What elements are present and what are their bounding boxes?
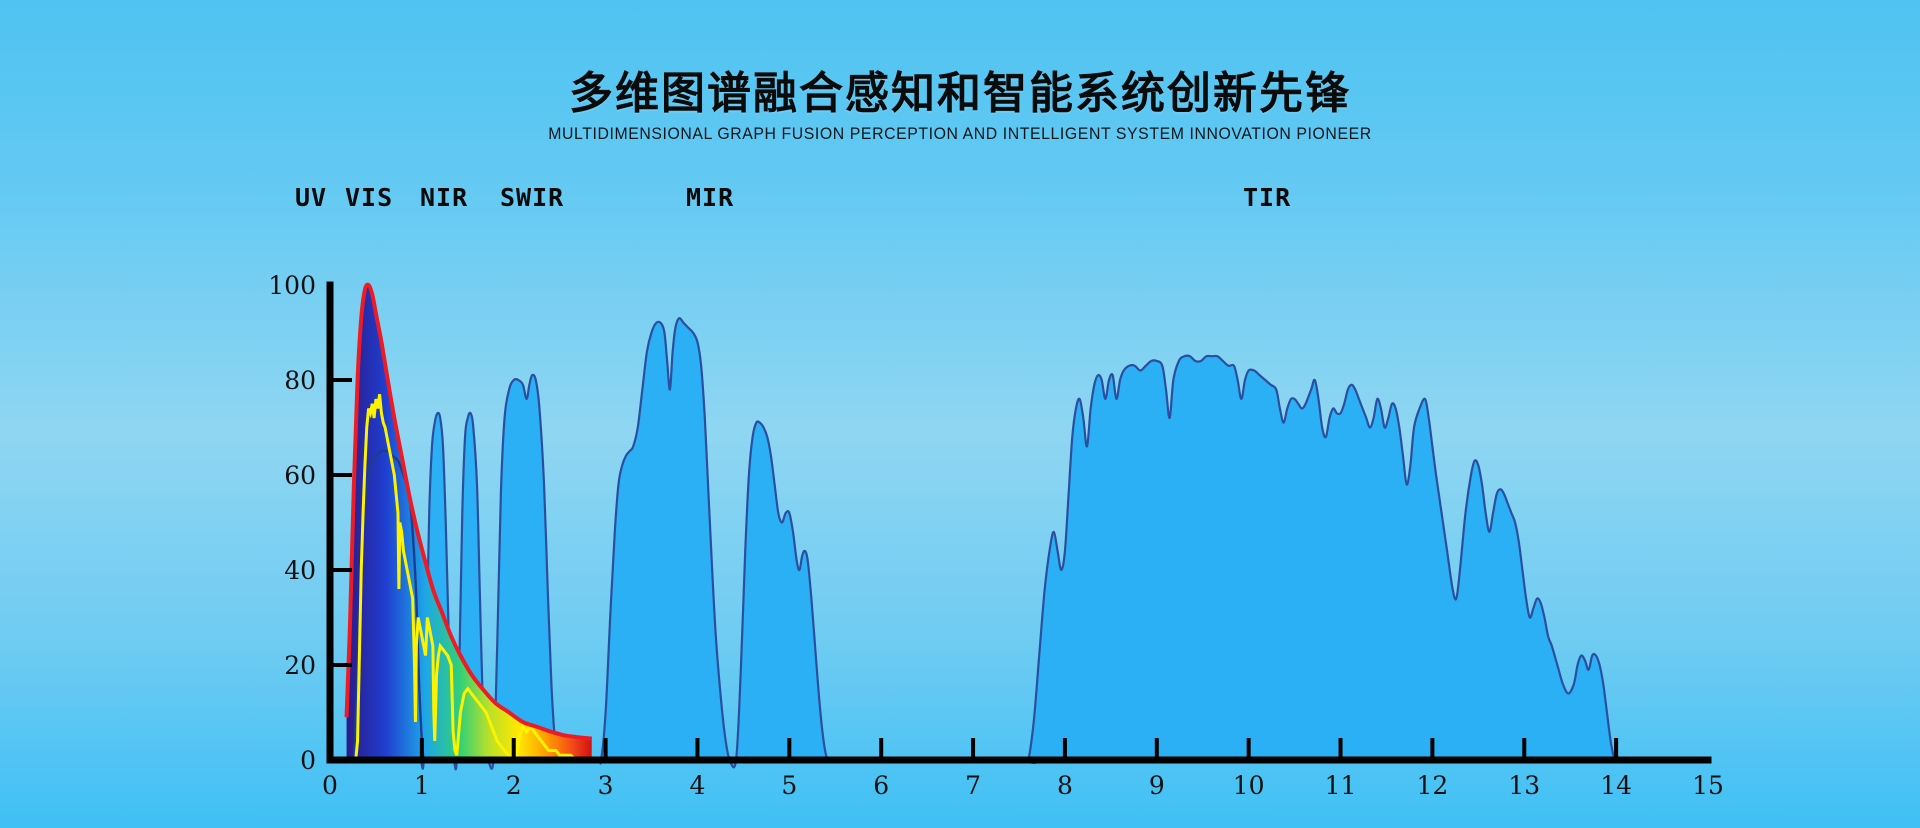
x-tick-label: 14 (1600, 771, 1632, 800)
x-tick-label: 11 (1325, 771, 1357, 800)
x-tick-label: 9 (1149, 771, 1165, 800)
y-tick-label: 0 (300, 746, 316, 775)
x-tick-label: 1 (414, 771, 430, 800)
x-tick-label: 3 (598, 771, 614, 800)
poster-stage: 多维图谱融合感知和智能系统创新先锋 MULTIDIMENSIONAL GRAPH… (0, 0, 1920, 828)
x-tick-label: 4 (690, 771, 706, 800)
x-tick-label: 6 (873, 771, 889, 800)
x-tick-label: 10 (1233, 771, 1265, 800)
y-tick-label: 100 (268, 271, 316, 300)
y-tick-labels: 020406080100 (268, 271, 316, 775)
y-tick-label: 80 (284, 366, 316, 395)
y-tick-label: 40 (284, 556, 316, 585)
spectrum-chart: 020406080100 0123456789101112131415 (0, 0, 1920, 828)
atmospheric-transmission-area (358, 318, 1615, 769)
y-tick-label: 20 (284, 651, 316, 680)
x-tick-label: 5 (781, 771, 797, 800)
x-tick-label: 12 (1416, 771, 1448, 800)
x-tick-label: 2 (506, 771, 522, 800)
x-tick-label: 15 (1692, 771, 1724, 800)
y-tick-label: 60 (284, 461, 316, 490)
transmission-area-layer (358, 318, 1615, 769)
x-tick-label: 7 (965, 771, 981, 800)
x-tick-label: 0 (322, 771, 338, 800)
x-tick-label: 13 (1508, 771, 1540, 800)
x-tick-label: 8 (1057, 771, 1073, 800)
x-tick-labels: 0123456789101112131415 (322, 771, 1724, 800)
